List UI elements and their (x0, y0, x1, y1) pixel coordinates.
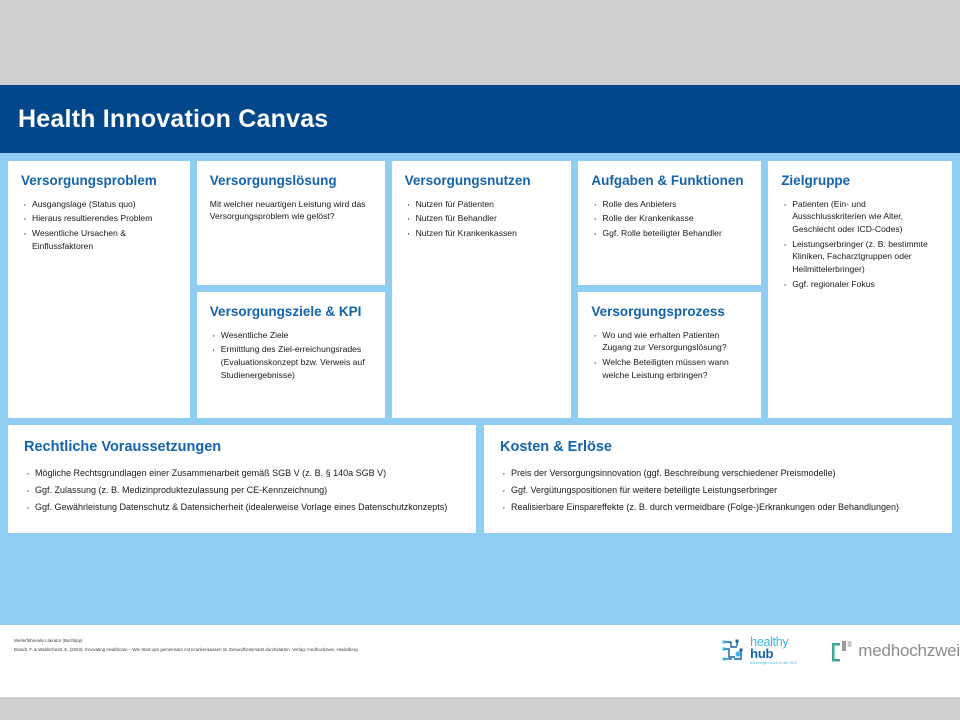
canvas-column-4: Aufgaben & Funktionen Rolle des Anbieter… (578, 161, 761, 418)
canvas-column-5: Zielgruppe Patienten (Ein- und Ausschlus… (768, 161, 952, 418)
healthy-hub-line2: hub (750, 647, 797, 660)
medhochzwei-wordmark: medhochzwei (858, 641, 960, 661)
healthy-hub-logo[interactable]: healthy hub wir bringen euch in die GKV (717, 633, 801, 669)
card-title-versorgungsziele: Versorgungsziele & KPI (210, 304, 372, 320)
list-item: Ggf. Vergütungspositionen für weitere be… (500, 484, 936, 498)
card-versorgungsproblem[interactable]: Versorgungsproblem Ausgangslage (Status … (8, 161, 190, 418)
list-item: Nutzen für Behandler (405, 212, 559, 225)
bullet-list-versorgungsproblem: Ausgangslage (Status quo) Hieraus result… (21, 198, 177, 253)
canvas-area: Versorgungsproblem Ausgangslage (Status … (0, 153, 960, 625)
canvas-column-2: Versorgungslösung Mit welcher neuartigen… (197, 161, 385, 418)
bullet-list-versorgungsziele: Wesentliche Ziele Ermittlung des Ziel-er… (210, 329, 372, 382)
card-title-versorgungsloesung: Versorgungslösung (210, 173, 372, 189)
list-item: Hieraus resultierendes Problem (21, 212, 177, 225)
card-versorgungsprozess[interactable]: Versorgungsprozess Wo und wie erhalten P… (578, 292, 761, 418)
card-title-versorgungsprozess: Versorgungsprozess (591, 304, 748, 320)
card-aufgaben-funktionen[interactable]: Aufgaben & Funktionen Rolle des Anbieter… (578, 161, 761, 285)
list-item: Mögliche Rechtsgrundlagen einer Zusammen… (24, 467, 460, 481)
card-title-aufgaben-funktionen: Aufgaben & Funktionen (591, 173, 748, 189)
list-item: Ggf. Rolle beteiligter Behandler (591, 227, 748, 240)
canvas-column-1: Versorgungsproblem Ausgangslage (Status … (8, 161, 190, 418)
list-item: Ggf. regionaler Fokus (781, 278, 939, 291)
card-title-versorgungsproblem: Versorgungsproblem (21, 173, 177, 189)
list-item: Ermittlung des Ziel-erreichungsrades (Ev… (210, 343, 372, 381)
literature-heading: Weiterführende Literatur (Buchtipp) (14, 637, 359, 646)
list-item: Rolle des Anbieters (591, 198, 748, 211)
bullet-list-versorgungsnutzen: Nutzen für Patienten Nutzen für Behandle… (405, 198, 559, 240)
card-versorgungsloesung[interactable]: Versorgungslösung Mit welcher neuartigen… (197, 161, 385, 285)
medhochzwei-logo[interactable]: medhochzwei (831, 640, 960, 662)
card-versorgungsnutzen[interactable]: Versorgungsnutzen Nutzen für Patienten N… (392, 161, 572, 418)
literature-note: Weiterführende Literatur (Buchtipp) Bran… (14, 633, 359, 654)
bullet-list-rechtliche-voraussetzungen: Mögliche Rechtsgrundlagen einer Zusammen… (24, 467, 460, 515)
bullet-list-kosten-erloese: Preis der Versorgungsinnovation (ggf. Be… (500, 467, 936, 515)
list-item: Realisierbare Einspareffekte (z. B. durc… (500, 501, 936, 515)
canvas-bottom-grid: Rechtliche Voraussetzungen Mögliche Rech… (8, 425, 952, 533)
bullet-list-aufgaben-funktionen: Rolle des Anbieters Rolle der Krankenkas… (591, 198, 748, 240)
healthy-hub-wordmark: healthy hub wir bringen euch in die GKV (750, 636, 797, 666)
list-item: Nutzen für Krankenkassen (405, 227, 559, 240)
list-item: Patienten (Ein- und Ausschlusskriterien … (781, 198, 939, 236)
bullet-list-zielgruppe: Patienten (Ein- und Ausschlusskriterien … (781, 198, 939, 291)
card-versorgungsziele[interactable]: Versorgungsziele & KPI Wesentliche Ziele… (197, 292, 385, 418)
medhochzwei-mark-icon (831, 640, 853, 662)
slide-title-bar: Health Innovation Canvas (0, 85, 960, 153)
circuit-board-icon (721, 637, 747, 665)
healthy-hub-tagline: wir bringen euch in die GKV (750, 662, 797, 666)
card-title-rechtliche-voraussetzungen: Rechtliche Voraussetzungen (24, 439, 460, 456)
card-kosten-erloese[interactable]: Kosten & Erlöse Preis der Versorgungsinn… (484, 425, 952, 533)
literature-citation: Brandt, F. & Waldschmitt, E. (2023): Inn… (14, 646, 359, 655)
slide-footer: Weiterführende Literatur (Buchtipp) Bran… (0, 625, 960, 697)
card-title-versorgungsnutzen: Versorgungsnutzen (405, 173, 559, 189)
list-item: Wo und wie erhalten Patienten Zugang zur… (591, 329, 748, 354)
canvas-column-3: Versorgungsnutzen Nutzen für Patienten N… (392, 161, 572, 418)
card-title-kosten-erloese: Kosten & Erlöse (500, 439, 936, 456)
slide-frame: Health Innovation Canvas Versorgungsprob… (0, 85, 960, 625)
page-title: Health Innovation Canvas (18, 105, 328, 134)
footer-logos: healthy hub wir bringen euch in die GKV … (717, 625, 960, 677)
card-text-versorgungsloesung: Mit welcher neuartigen Leistung wird das… (210, 198, 372, 224)
list-item: Wesentliche Ziele (210, 329, 372, 342)
list-item: Ggf. Gewährleistung Datenschutz & Datens… (24, 501, 460, 515)
list-item: Nutzen für Patienten (405, 198, 559, 211)
list-item: Ausgangslage (Status quo) (21, 198, 177, 211)
list-item: Rolle der Krankenkasse (591, 212, 748, 225)
list-item: Preis der Versorgungsinnovation (ggf. Be… (500, 467, 936, 481)
canvas-top-grid: Versorgungsproblem Ausgangslage (Status … (8, 161, 952, 418)
list-item: Welche Beteiligten müssen wann welche Le… (591, 356, 748, 381)
card-title-zielgruppe: Zielgruppe (781, 173, 939, 189)
card-rechtliche-voraussetzungen[interactable]: Rechtliche Voraussetzungen Mögliche Rech… (8, 425, 476, 533)
bullet-list-versorgungsprozess: Wo und wie erhalten Patienten Zugang zur… (591, 329, 748, 382)
card-zielgruppe[interactable]: Zielgruppe Patienten (Ein- und Ausschlus… (768, 161, 952, 418)
list-item: Ggf. Zulassung (z. B. Medizinproduktezul… (24, 484, 460, 498)
list-item: Wesentliche Ursachen & Einflussfaktoren (21, 227, 177, 252)
list-item: Leistungserbringer (z. B. bestimmte Klin… (781, 238, 939, 276)
